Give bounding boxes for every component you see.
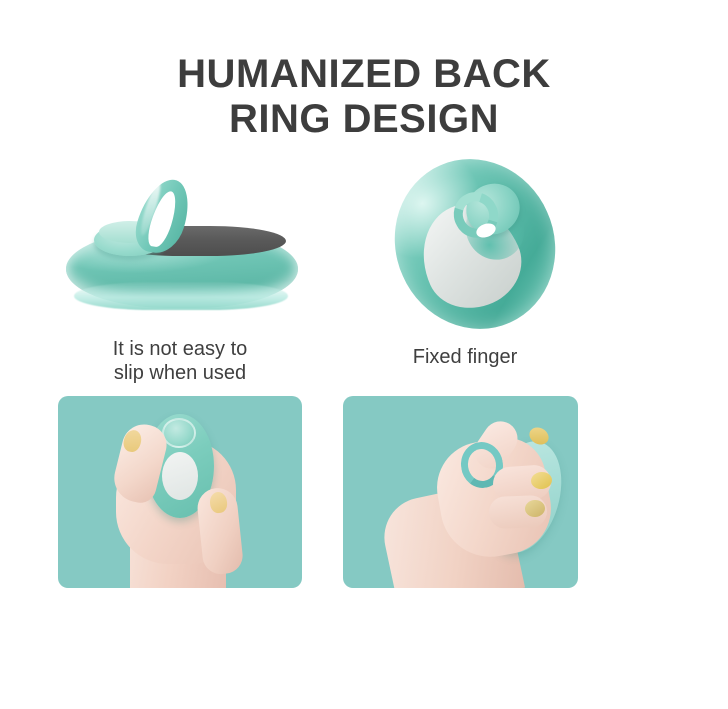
caption-anti-slip-line-1: It is not easy to — [55, 337, 305, 361]
device-bottom-rim — [74, 282, 288, 310]
caption-anti-slip-line-2: slip when used — [55, 361, 305, 385]
caption-anti-slip: It is not easy to slip when used — [55, 337, 305, 385]
device-in-hand-inner-panel — [162, 452, 198, 500]
hand-holding-device-photo — [58, 396, 302, 588]
hand-with-ring-on-finger-photo — [343, 396, 578, 588]
page-title: HUMANIZED BACK RING DESIGN — [0, 52, 728, 142]
product-oval-back-ring-photo — [380, 152, 570, 337]
device-in-hand-ring-disc — [162, 418, 196, 448]
caption-fixed-finger-line-1: Fixed finger — [340, 345, 590, 369]
caption-fixed-finger: Fixed finger — [340, 345, 590, 369]
page-title-line-1: HUMANIZED BACK — [0, 52, 728, 97]
product-angled-ring-up-photo — [52, 178, 312, 318]
page-title-line-2: RING DESIGN — [0, 97, 728, 142]
